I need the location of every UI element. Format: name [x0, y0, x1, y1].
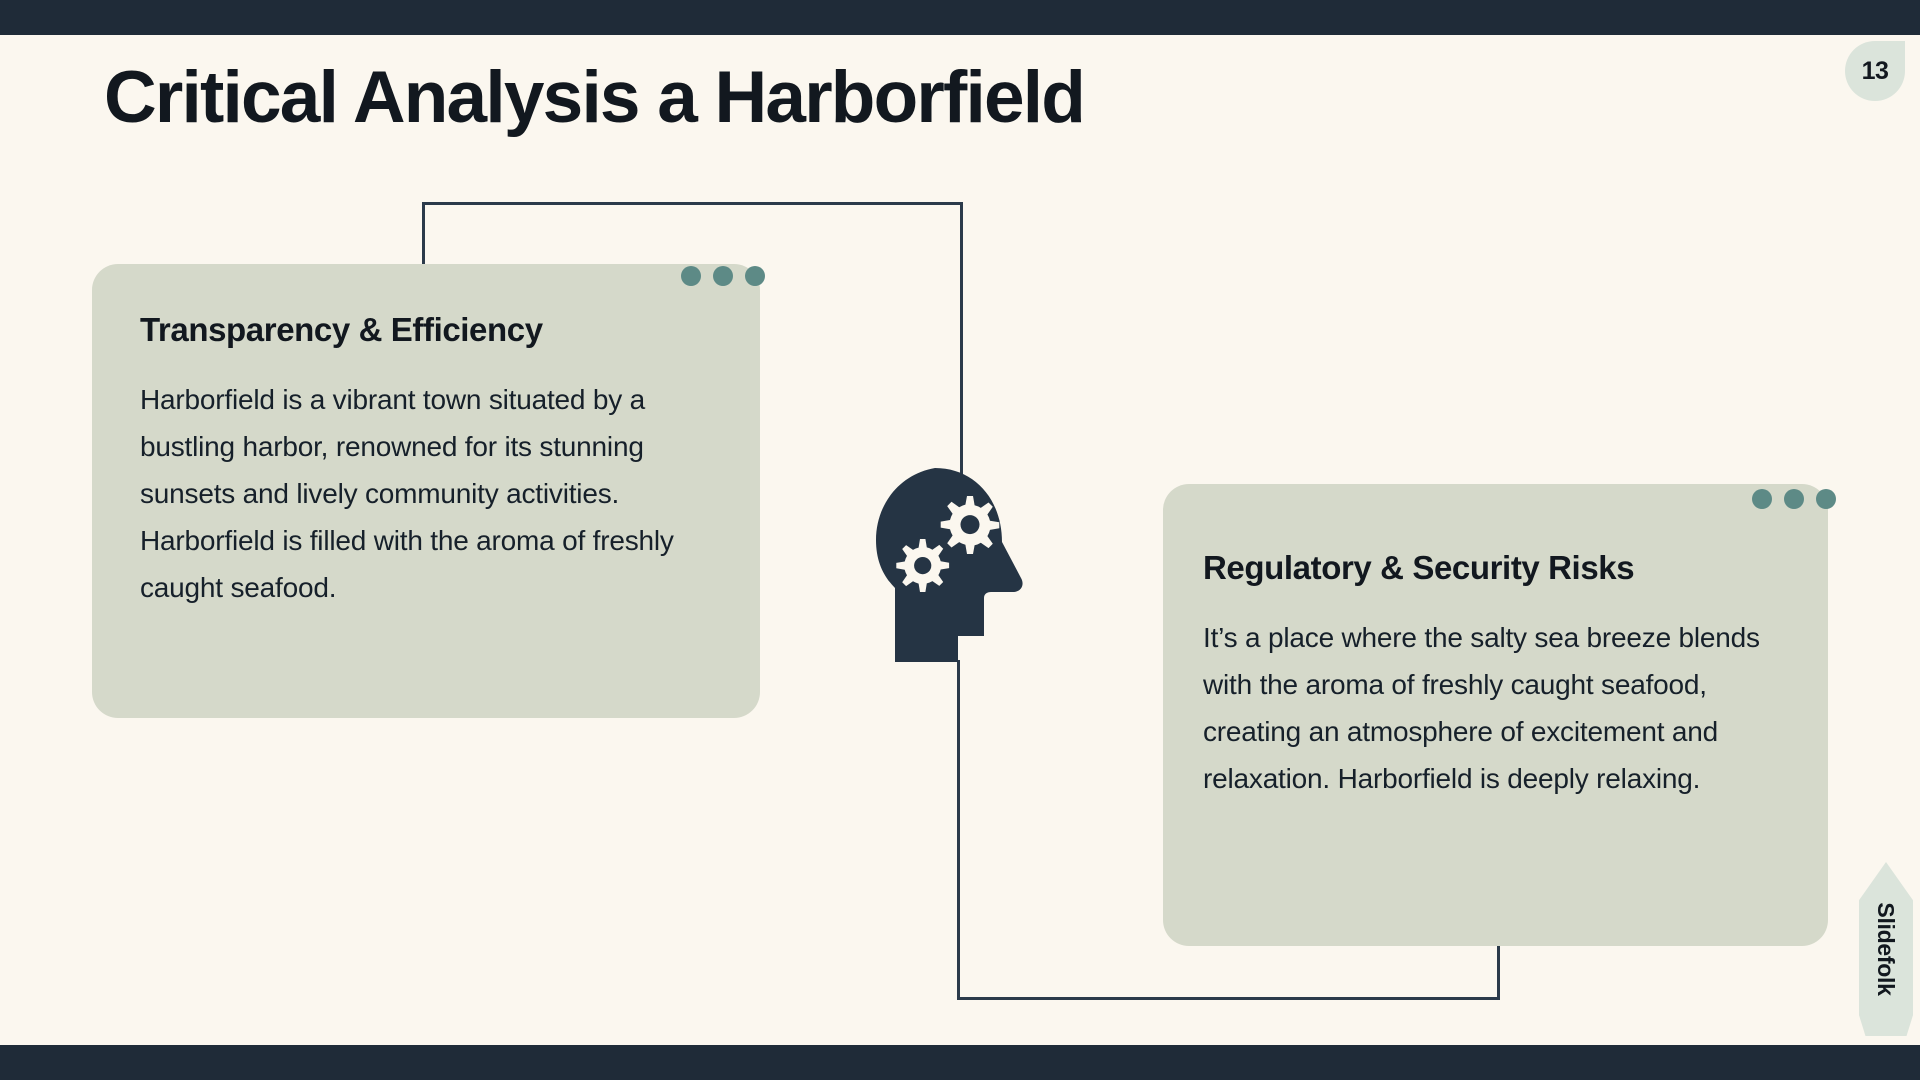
brand-label: Slidefolk — [1859, 862, 1913, 1036]
window-dot-icon — [713, 266, 733, 286]
connector-top-horizontal — [422, 202, 963, 205]
window-dots-right — [1752, 489, 1836, 509]
card-body: It’s a place where the salty sea breeze … — [1203, 614, 1788, 802]
bottom-bar — [0, 1045, 1920, 1080]
card-heading: Transparency & Efficiency — [140, 310, 712, 350]
top-bar — [0, 0, 1920, 35]
slide-canvas: 13 Critical Analysis a Harborfield Trans… — [0, 0, 1920, 1080]
card-heading: Regulatory & Security Risks — [1203, 548, 1788, 588]
connector-top-right-vertical — [960, 202, 963, 479]
head-with-gears-icon — [872, 466, 1042, 666]
card-transparency-efficiency[interactable]: Transparency & Efficiency Harborfield is… — [92, 264, 760, 718]
window-dot-icon — [745, 266, 765, 286]
card-body: Harborfield is a vibrant town situated b… — [140, 376, 712, 611]
window-dot-icon — [1784, 489, 1804, 509]
window-dot-icon — [1752, 489, 1772, 509]
window-dots-left — [681, 266, 765, 286]
connector-bottom-left-vertical — [957, 660, 960, 1000]
page-number-badge: 13 — [1845, 41, 1905, 101]
page-title: Critical Analysis a Harborfield — [104, 60, 1504, 137]
window-dot-icon — [681, 266, 701, 286]
window-dot-icon — [1816, 489, 1836, 509]
connector-top-left-vertical — [422, 202, 425, 268]
card-regulatory-security-risks[interactable]: Regulatory & Security Risks It’s a place… — [1163, 484, 1828, 946]
page-number-label: 13 — [1862, 57, 1889, 86]
brand-tab[interactable]: Slidefolk — [1859, 862, 1913, 1036]
connector-bottom-horizontal — [957, 997, 1500, 1000]
